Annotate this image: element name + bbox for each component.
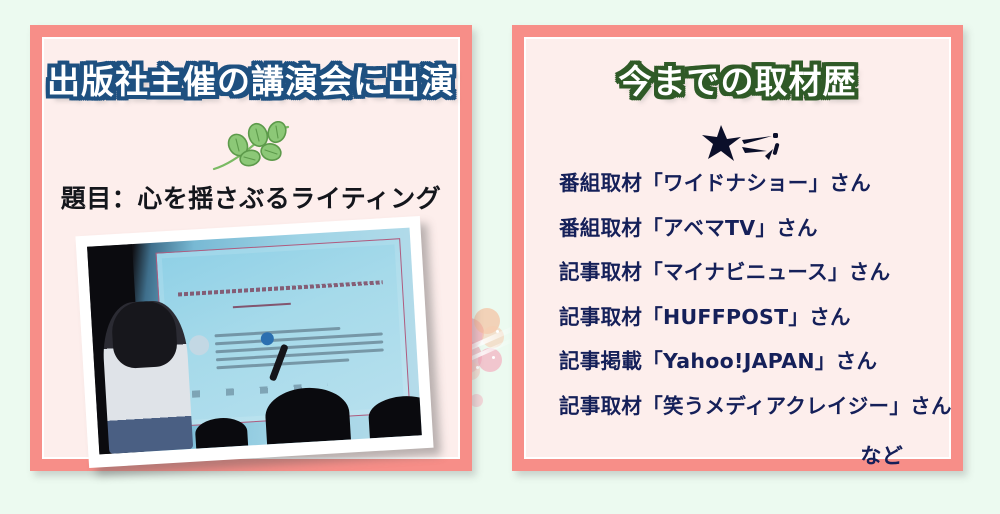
left-panel-card: 出版社主催の講演会に出演 題目：心を揺さぶるライティング (30, 25, 472, 471)
list-item: 番組取材「アベマTV」さん (559, 218, 925, 240)
right-panel-inner: 今までの取材歴 番組取材「ワイドナショー」さん 番組取材「アベマTV」さん 記事… (524, 37, 951, 459)
list-item: 記事掲載「Yahoo!JAPAN」さん (559, 351, 925, 373)
shooting-star-icon (695, 123, 781, 169)
right-panel-card: 今までの取材歴 番組取材「ワイドナショー」さん 番組取材「アベマTV」さん 記事… (512, 25, 963, 471)
credit-list-etc: など (559, 440, 925, 470)
list-item: 記事取材「マイナビニュース」さん (559, 262, 925, 284)
left-panel-title: 出版社主催の講演会に出演 (44, 65, 458, 98)
left-panel-inner: 出版社主催の講演会に出演 題目：心を揺さぶるライティング (42, 37, 460, 459)
poster-canvas: 出版社主催の講演会に出演 題目：心を揺さぶるライティング (0, 0, 1000, 514)
list-item: 番組取材「ワイドナショー」さん (559, 173, 925, 195)
lecture-photo-image (87, 228, 422, 455)
slide-title-line (178, 280, 382, 296)
lecture-photo (75, 216, 433, 468)
speaker-figure (100, 299, 193, 453)
credit-list: 番組取材「ワイドナショー」さん 番組取材「アベマTV」さん 記事取材「マイナビニ… (559, 173, 925, 470)
right-panel-title: 今までの取材歴 (526, 65, 949, 98)
leaf-branch-icon (208, 121, 294, 173)
list-item: 記事取材「笑うメディアクレイジー」さん (559, 396, 925, 418)
left-panel-subtitle: 題目：心を揺さぶるライティング (44, 179, 458, 215)
slide-underline (233, 303, 291, 308)
slide-tweet-block (188, 322, 386, 396)
list-item: 記事取材「HUFFPOST」さん (559, 307, 925, 329)
